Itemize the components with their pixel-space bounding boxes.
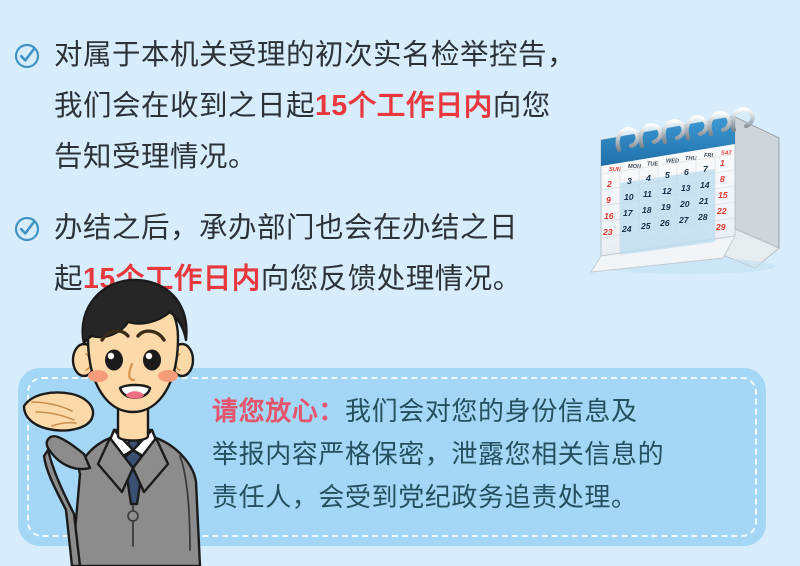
businessman-illustration	[18, 278, 248, 566]
date-cell: 4	[645, 173, 651, 183]
check-circle-icon	[14, 43, 40, 69]
date-cell: 23	[602, 227, 613, 237]
date-cell: 19	[661, 202, 671, 212]
date-cell: 27	[678, 215, 690, 225]
date-cell: 10	[624, 192, 634, 202]
date-cell: 25	[640, 221, 651, 231]
date-cell: 12	[662, 186, 672, 196]
date-cell: 18	[642, 205, 652, 215]
date-cell: 17	[623, 208, 634, 218]
blush-left	[88, 370, 108, 382]
poster-root: 对属于本机关受理的初次实名检举控告， 我们会在收到之日起15个工作日内向您 告知…	[0, 0, 800, 566]
date-cell: 3	[627, 176, 632, 186]
info-box-text: 请您放心：我们会对您的身份信息及 举报内容严格保密，泄露您相关信息的 责任人，会…	[212, 390, 757, 519]
date-cell: 9	[606, 195, 611, 205]
date-cell: 20	[679, 199, 690, 209]
open-hand	[24, 393, 93, 431]
jacket-button	[128, 511, 138, 521]
eye-left	[105, 350, 123, 371]
day-header-mon: MON	[628, 164, 642, 170]
date-cell: 28	[697, 212, 708, 222]
date-cell: 2	[606, 179, 612, 189]
date-cell: 22	[716, 206, 727, 216]
date-cell: 13	[681, 183, 691, 193]
desk-calendar: SUN MON TUE WED THU FRI SAT	[583, 96, 795, 278]
date-cell: 29	[715, 222, 726, 232]
bullet-highlight: 15个工作日内	[315, 90, 493, 122]
blush-right	[158, 370, 178, 382]
date-cell: 1	[720, 158, 725, 168]
date-cell: 8	[720, 174, 725, 184]
date-cell: 26	[659, 218, 670, 228]
date-cell: 16	[604, 211, 614, 221]
date-cell: 5	[665, 170, 670, 180]
check-circle-icon	[14, 216, 40, 242]
date-cell: 6	[684, 167, 689, 177]
eye-right	[143, 350, 161, 371]
date-cell: 11	[643, 189, 652, 199]
date-cell: 15	[718, 190, 728, 200]
bullet-text: 对属于本机关受理的初次实名检举控告， 我们会在收到之日起15个工作日内向您 告知…	[54, 30, 614, 183]
list-item: 对属于本机关受理的初次实名检举控告， 我们会在收到之日起15个工作日内向您 告知…	[14, 30, 614, 183]
bullet-segment: 向您反馈处理情况。	[261, 263, 522, 295]
date-cell: 24	[621, 224, 632, 234]
date-cell: 14	[700, 180, 710, 190]
date-cell: 21	[698, 196, 709, 206]
